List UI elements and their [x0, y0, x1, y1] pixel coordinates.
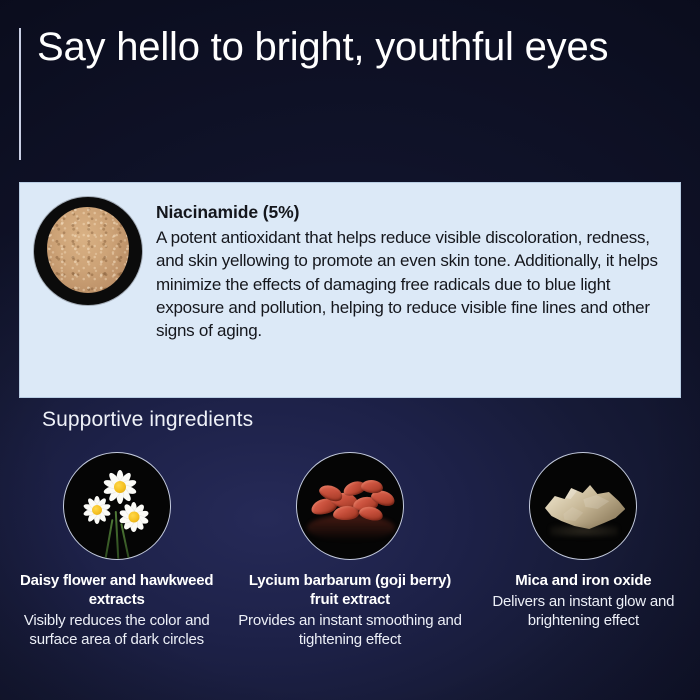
goji-reflection: [307, 515, 395, 541]
supportive-item-goji: Lycium barbarum (goji berry) fruit extra…: [233, 452, 466, 649]
supportive-item-description: Visibly reduces the color and surface ar…: [4, 611, 229, 649]
goji-berries-image: [296, 452, 404, 560]
mica-rock-icon: [543, 481, 625, 531]
main-ingredient-text: Niacinamide (5%) A potent antioxidant th…: [156, 197, 662, 387]
title-accent-rule: [19, 28, 21, 160]
header-section: Say hello to bright, youthful eyes: [19, 26, 679, 162]
supportive-caption: Daisy flower and hawkweed extracts Visib…: [0, 572, 233, 649]
supportive-ingredients-heading: Supportive ingredients: [42, 408, 253, 432]
page-title: Say hello to bright, youthful eyes: [37, 22, 677, 73]
main-ingredient-name: Niacinamide (5%): [156, 201, 662, 224]
main-ingredient-card-body: Niacinamide (5%) A potent antioxidant th…: [20, 183, 680, 397]
infographic-page: Say hello to bright, youthful eyes Niaci…: [0, 0, 700, 700]
supportive-ingredients-grid: Daisy flower and hawkweed extracts Visib…: [0, 452, 700, 649]
powder-grain-texture: [47, 207, 129, 293]
goji-berry-icon: [360, 479, 383, 494]
daisy-flower-icon: [116, 499, 152, 535]
daisy-flowers-image: [63, 452, 171, 560]
mica-shadow: [550, 525, 618, 537]
supportive-item-description: Provides an instant smoothing and tighte…: [237, 611, 462, 649]
main-ingredient-description: A potent antioxidant that helps reduce v…: [156, 226, 662, 343]
supportive-item-name: Daisy flower and hawkweed extracts: [4, 572, 229, 610]
daisy-scene: [64, 453, 170, 559]
supportive-caption: Mica and iron oxide Delivers an instant …: [467, 572, 700, 630]
supportive-caption: Lycium barbarum (goji berry) fruit extra…: [233, 572, 466, 649]
mica-scene: [530, 453, 636, 559]
supportive-item-daisy: Daisy flower and hawkweed extracts Visib…: [0, 452, 233, 649]
daisy-flower-icon: [80, 493, 114, 527]
main-ingredient-card: Niacinamide (5%) A potent antioxidant th…: [19, 182, 681, 398]
supportive-item-mica: Mica and iron oxide Delivers an instant …: [467, 452, 700, 649]
mica-mineral-image: [529, 452, 637, 560]
goji-scene: [297, 453, 403, 559]
supportive-item-name: Mica and iron oxide: [471, 572, 696, 591]
supportive-item-description: Delivers an instant glow and brightening…: [471, 592, 696, 630]
niacinamide-powder-image: [34, 197, 142, 305]
supportive-item-name: Lycium barbarum (goji berry) fruit extra…: [237, 572, 462, 610]
